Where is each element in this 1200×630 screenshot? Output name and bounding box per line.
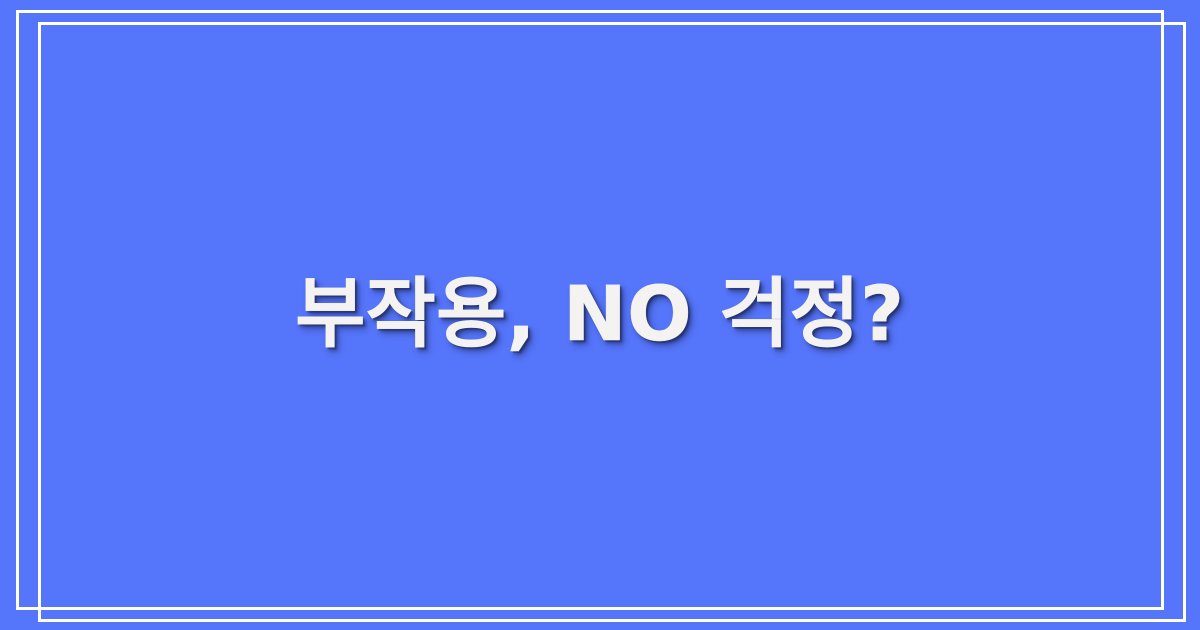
banner-canvas: 부작용, NO 걱정? (0, 0, 1200, 630)
banner-headline: 부작용, NO 걱정? (295, 266, 904, 365)
headline-container: 부작용, NO 걱정? (0, 0, 1200, 630)
